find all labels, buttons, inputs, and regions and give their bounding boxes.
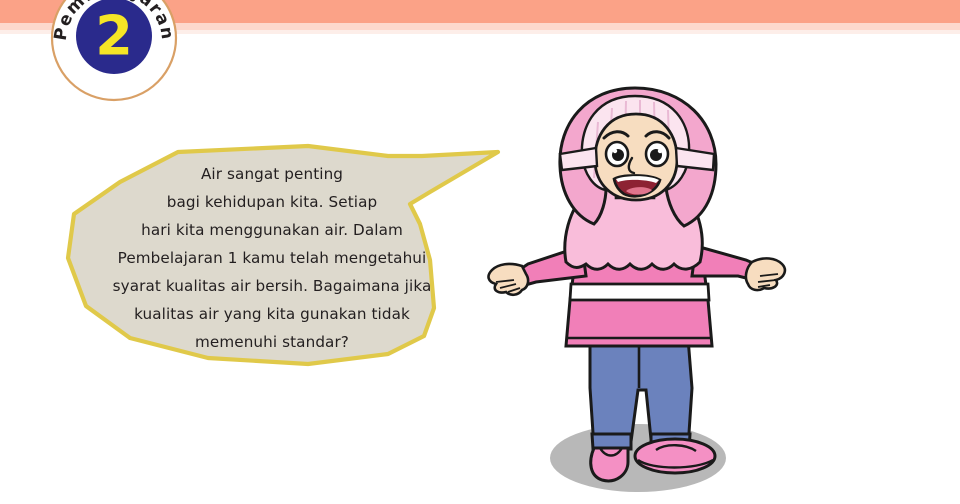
lesson-badge: Pembelajaran 2: [46, 0, 182, 106]
eye-left-highlight: [613, 149, 617, 153]
speech-bubble: [58, 140, 510, 385]
badge-number: 2: [95, 5, 133, 68]
speech-bubble-shape: [68, 146, 498, 364]
shoe-left: [591, 448, 628, 481]
page-root: Pembelajaran 2 Air sangat penting bagi k…: [0, 0, 960, 504]
belt: [570, 284, 709, 300]
eye-right-highlight: [658, 149, 662, 153]
character-illustration: [470, 70, 800, 504]
